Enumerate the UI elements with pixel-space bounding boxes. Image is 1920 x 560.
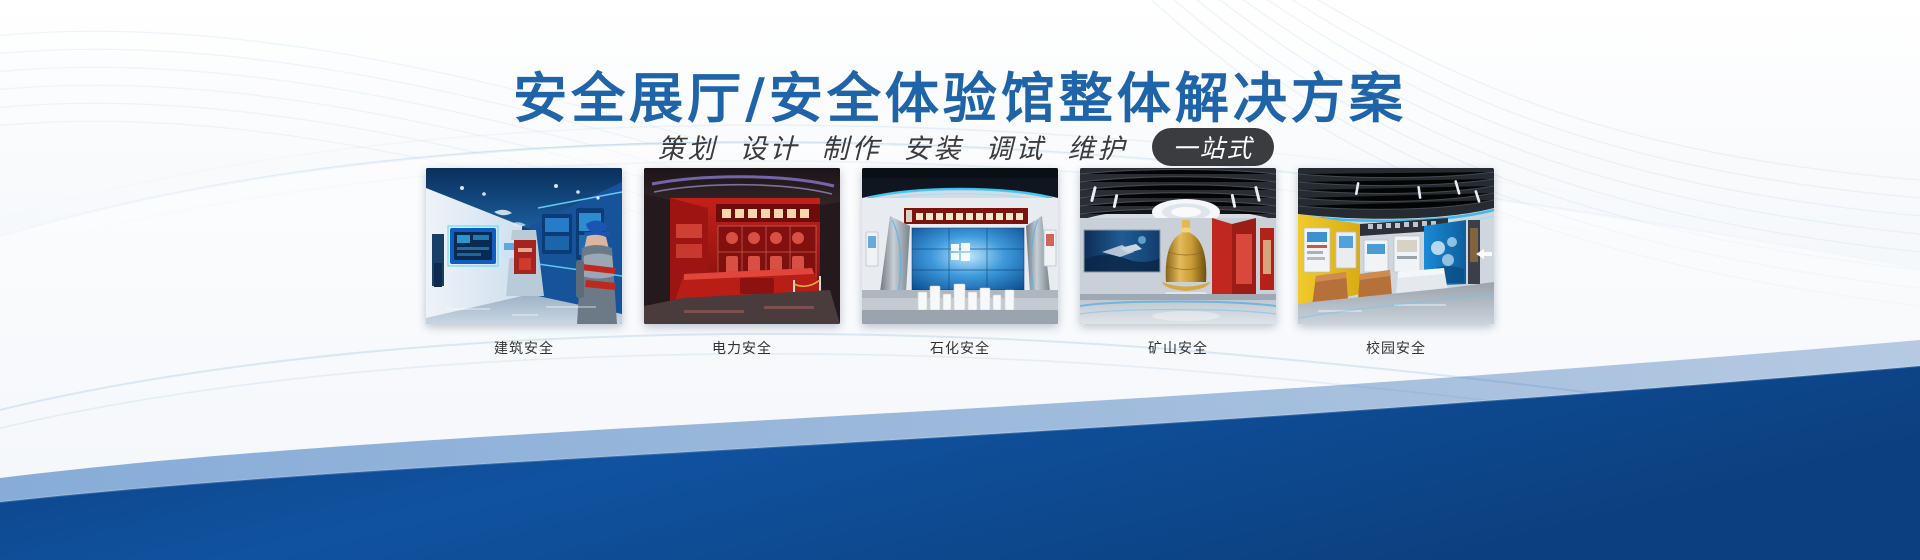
service-step-planning: 策划 (657, 127, 717, 166)
case-thumbnail-construction-safety[interactable] (426, 168, 622, 324)
case-card-label: 电力安全 (644, 338, 840, 358)
case-card-label: 矿山安全 (1080, 338, 1276, 358)
case-card-mine-safety[interactable]: 矿山安全 (1080, 168, 1276, 358)
case-thumbnail-petrochemical-safety[interactable] (862, 168, 1058, 324)
banner-root: 安全展厅/安全体验馆整体解决方案 策划 设计 制作 安装 调试 维护 一站式 (0, 0, 1920, 560)
case-thumbnail-campus-safety[interactable] (1298, 168, 1494, 324)
case-card-list: 建筑安全 (0, 168, 1920, 358)
case-card-petrochemical-safety[interactable]: 石化安全 (862, 168, 1058, 358)
case-card-label: 校园安全 (1298, 338, 1494, 358)
case-thumbnail-mine-safety[interactable] (1080, 168, 1276, 324)
one-stop-badge: 一站式 (1152, 128, 1273, 166)
service-step-design: 设计 (739, 127, 799, 166)
page-title: 安全展厅/安全体验馆整体解决方案 (0, 54, 1920, 133)
service-step-maintenance: 维护 (1067, 127, 1127, 166)
banner-content: 安全展厅/安全体验馆整体解决方案 策划 设计 制作 安装 调试 维护 一站式 (0, 0, 1920, 560)
service-step-production: 制作 (821, 127, 881, 166)
service-step-installation: 安装 (903, 127, 963, 166)
service-steps-row: 策划 设计 制作 安装 调试 维护 一站式 (0, 127, 1920, 166)
service-step-commissioning: 调试 (985, 127, 1045, 166)
case-thumbnail-power-safety[interactable] (644, 168, 840, 324)
case-card-construction-safety[interactable]: 建筑安全 (426, 168, 622, 358)
case-card-power-safety[interactable]: 电力安全 (644, 168, 840, 358)
case-card-label: 建筑安全 (426, 338, 622, 358)
case-card-campus-safety[interactable]: 校园安全 (1298, 168, 1494, 358)
case-card-label: 石化安全 (862, 338, 1058, 358)
